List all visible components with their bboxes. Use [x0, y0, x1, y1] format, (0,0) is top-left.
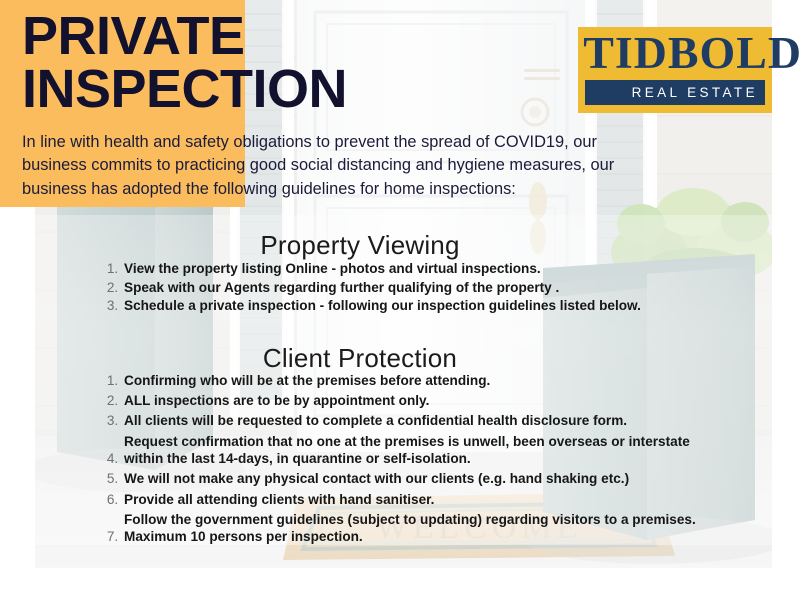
list-item: We will not make any physical contact wi…	[122, 470, 702, 488]
logo-tagline-bar: REAL ESTATE	[585, 80, 765, 105]
section-heading-property-viewing: Property Viewing	[60, 230, 660, 261]
logo-tagline: REAL ESTATE	[632, 85, 758, 100]
section-heading-client-protection: Client Protection	[60, 343, 660, 374]
list-item-text: Speak with our Agents regarding further …	[124, 279, 559, 297]
tidbold-logo: TIDBOLD REAL ESTATE	[578, 27, 772, 113]
list-item: Confirming who will be at the premises b…	[122, 372, 702, 390]
list-item-text: View the property listing Online - photo…	[124, 260, 541, 278]
list-item: ALL inspections are to be by appointment…	[122, 392, 702, 410]
list-item: All clients will be requested to complet…	[122, 412, 702, 430]
list-item-text: Confirming who will be at the premises b…	[124, 372, 490, 390]
list-item: Speak with our Agents regarding further …	[122, 279, 722, 297]
list-item-text: We will not make any physical contact wi…	[124, 470, 629, 488]
list-item-text: Request confirmation that no one at the …	[124, 433, 702, 468]
list-item-text: Provide all attending clients with hand …	[124, 491, 434, 509]
list-item: Schedule a private inspection - followin…	[122, 297, 722, 315]
list-item-text: Follow the government guidelines (subjec…	[124, 511, 702, 546]
poster-canvas: WELCOME	[0, 0, 800, 600]
list-item: View the property listing Online - photo…	[122, 260, 722, 278]
list-item: Request confirmation that no one at the …	[122, 433, 702, 468]
intro-paragraph: In line with health and safety obligatio…	[22, 131, 622, 201]
page-title: PRIVATE INSPECTION	[22, 10, 642, 116]
logo-wordmark: TIDBOLD	[583, 31, 767, 77]
list-item-text: Schedule a private inspection - followin…	[124, 297, 641, 315]
list-item: Follow the government guidelines (subjec…	[122, 511, 702, 546]
list-item-text: ALL inspections are to be by appointment…	[124, 392, 429, 410]
list-item-text: All clients will be requested to complet…	[124, 412, 627, 430]
guideline-list-property-viewing: View the property listing Online - photo…	[92, 260, 722, 316]
guideline-list-client-protection: Confirming who will be at the premises b…	[92, 372, 702, 549]
list-item: Provide all attending clients with hand …	[122, 491, 702, 509]
